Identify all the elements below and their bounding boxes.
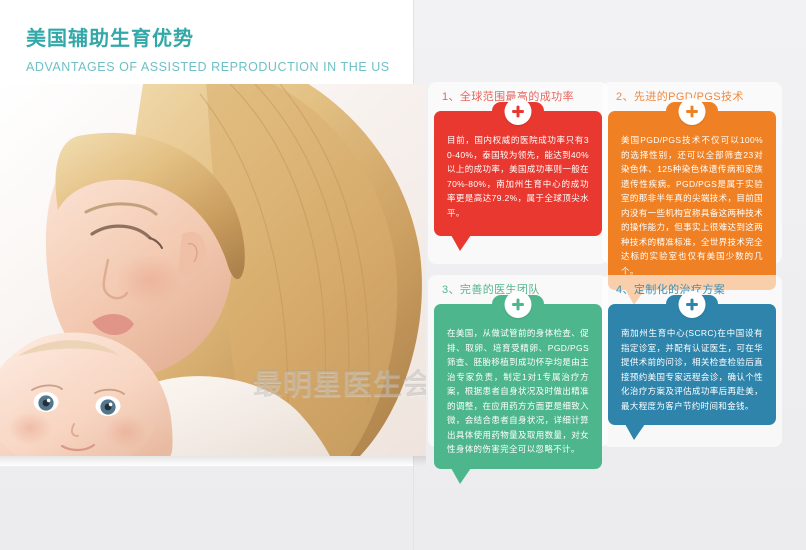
advantage-card-3[interactable]: 3、完善的医生团队 在美国，从做试管前的身体检查、促排、取卵、培育受精卵、PGD… — [434, 281, 602, 469]
advantage-card-1[interactable]: 1、全球范围最高的成功率 目前，国内权威的医院成功率只有30-40%，泰国较为领… — [434, 88, 602, 236]
card-bubble-4: 南加州生育中心(SCRC)在中国设有指定诊室，并配有认证医生，可在华提供术前的问… — [608, 304, 776, 425]
hero-image: 最明星医生会通... — [0, 84, 426, 456]
page-subtitle: ADVANTAGES OF ASSISTED REPRODUCTION IN T… — [26, 58, 406, 76]
advantage-card-4[interactable]: 4、定制化的治疗方案 南加州生育中心(SCRC)在中国设有指定诊室，并配有认证医… — [608, 281, 776, 425]
card-bubble-3: 在美国，从做试管前的身体检查、促排、取卵、培育受精卵、PGD/PGS筛查、胚胎移… — [434, 304, 602, 469]
medical-cross-icon — [505, 98, 532, 125]
medical-cross-icon — [679, 291, 706, 318]
card-bubble-1: 目前，国内权威的医院成功率只有30-40%，泰国较为领先，能达到40%以上的成功… — [434, 111, 602, 236]
advantage-card-2[interactable]: 2、先进的PGD/PGS技术 美国PGD/PGS技术不仅可以100%的选择性别，… — [608, 88, 776, 290]
page-root: 美国辅助生育优势 ADVANTAGES OF ASSISTED REPRODUC… — [0, 0, 806, 550]
page-title: 美国辅助生育优势 — [26, 26, 406, 52]
medical-cross-icon — [679, 98, 706, 125]
card-tail-3 — [451, 468, 471, 484]
card-bubble-2: 美国PGD/PGS技术不仅可以100%的选择性别，还可以全部筛查23对染色体、1… — [608, 111, 776, 290]
card-body-2: 美国PGD/PGS技术不仅可以100%的选择性别，还可以全部筛查23对染色体、1… — [621, 133, 763, 278]
hero-shadow — [0, 456, 426, 466]
hero-photo-illustration — [0, 84, 426, 456]
page-header: 美国辅助生育优势 ADVANTAGES OF ASSISTED REPRODUC… — [26, 26, 406, 76]
card-tail-1 — [451, 235, 471, 251]
card-body-3: 在美国，从做试管前的身体检查、促排、取卵、培育受精卵、PGD/PGS筛查、胚胎移… — [447, 326, 589, 457]
card-tail-4 — [625, 424, 645, 440]
card-body-1: 目前，国内权威的医院成功率只有30-40%，泰国较为领先，能达到40%以上的成功… — [447, 133, 589, 220]
card-body-4: 南加州生育中心(SCRC)在中国设有指定诊室，并配有认证医生，可在华提供术前的问… — [621, 326, 763, 413]
medical-cross-icon — [505, 291, 532, 318]
